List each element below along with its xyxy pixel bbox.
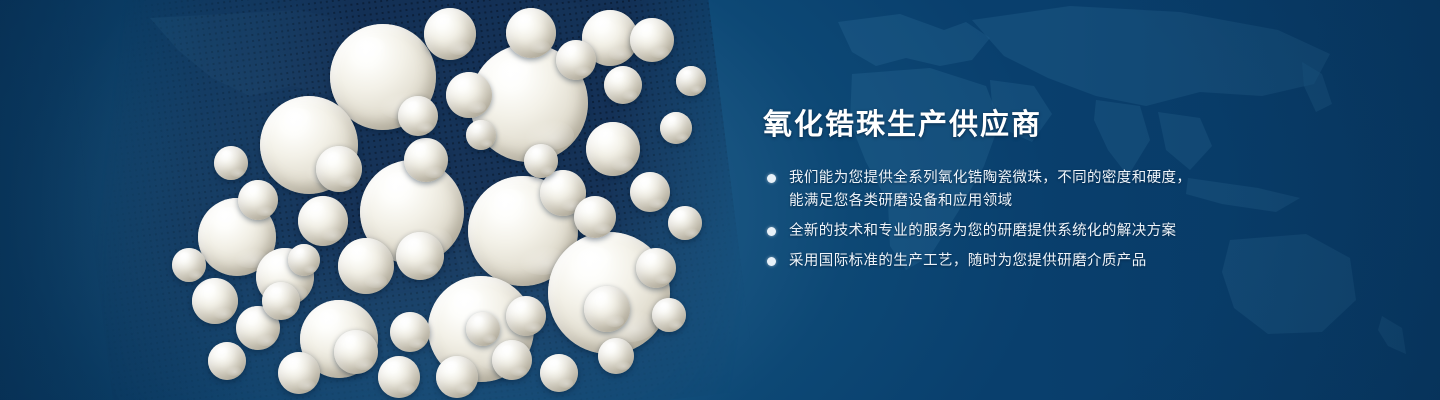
bullet-dot-icon — [767, 174, 776, 183]
zirconia-beads-photo — [0, 0, 760, 400]
bullet-dot-icon — [767, 227, 776, 236]
banner-text-block: 氧化锆珠生产供应商 我们能为您提供全系列氧化锆陶瓷微珠，不同的密度和硬度， 能满… — [763, 108, 1233, 280]
hero-banner: 氧化锆珠生产供应商 我们能为您提供全系列氧化锆陶瓷微珠，不同的密度和硬度， 能满… — [0, 0, 1440, 400]
banner-title: 氧化锆珠生产供应商 — [763, 108, 1233, 142]
list-item: 采用国际标准的生产工艺，随时为您提供研磨介质产品 — [763, 250, 1233, 273]
bullet-dot-icon — [767, 257, 776, 266]
bullet-line: 全新的技术和专业的服务为您的研磨提供系统化的解决方案 — [789, 220, 1233, 243]
bullet-line: 我们能为您提供全系列氧化锆陶瓷微珠，不同的密度和硬度， — [789, 167, 1233, 190]
banner-feature-list: 我们能为您提供全系列氧化锆陶瓷微珠，不同的密度和硬度， 能满足您各类研磨设备和应… — [763, 167, 1233, 273]
bullet-line: 采用国际标准的生产工艺，随时为您提供研磨介质产品 — [789, 250, 1233, 273]
list-item: 全新的技术和专业的服务为您的研磨提供系统化的解决方案 — [763, 220, 1233, 243]
bullet-line: 能满足您各类研磨设备和应用领域 — [789, 190, 1233, 213]
list-item: 我们能为您提供全系列氧化锆陶瓷微珠，不同的密度和硬度， 能满足您各类研磨设备和应… — [763, 167, 1233, 213]
